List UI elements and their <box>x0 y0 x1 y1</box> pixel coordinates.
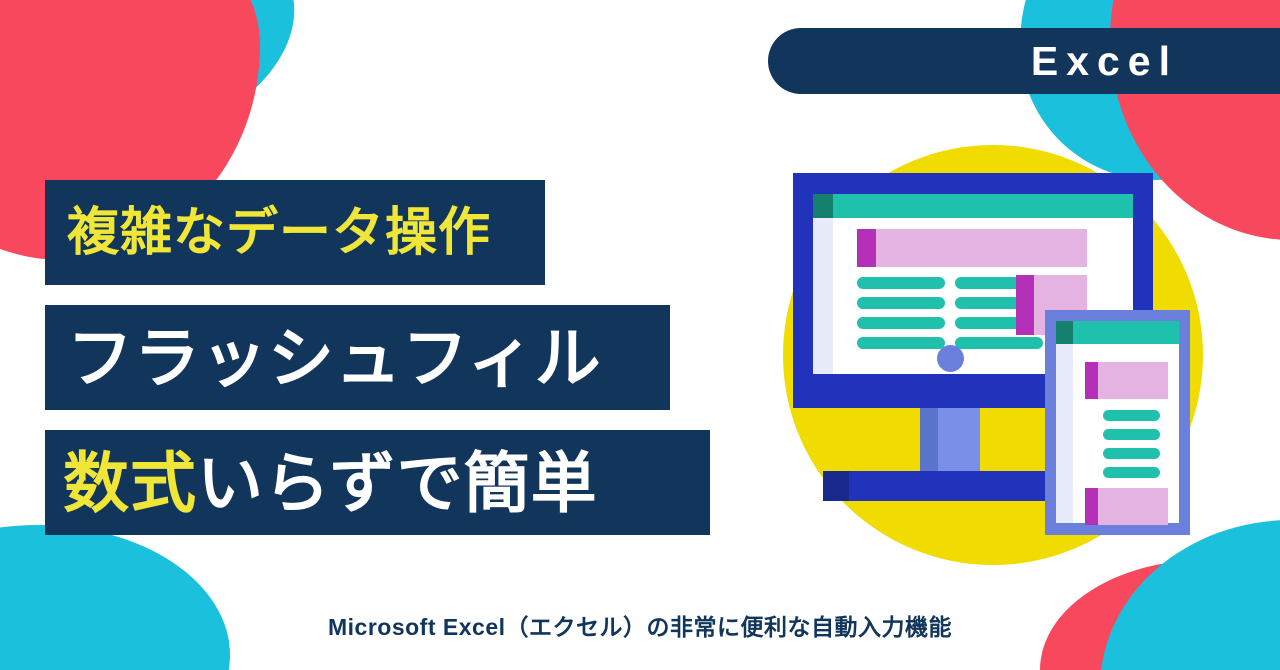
spreadsheet-corner-cell <box>813 194 833 218</box>
spreadsheet-cell-pill <box>857 277 945 289</box>
headline-line-3-accent: 数式 <box>63 450 197 516</box>
tablet-bottom-block <box>1085 488 1168 525</box>
tablet-toolbar <box>1056 321 1179 344</box>
tablet-frame <box>1045 310 1190 535</box>
tablet-top-block-tag <box>1085 362 1098 399</box>
excel-badge-label: Excel <box>1031 41 1178 82</box>
headline-bar-1: 複雑なデータ操作 <box>45 180 545 285</box>
spreadsheet-wide-row-tag <box>857 229 876 267</box>
spreadsheet-cell-pill <box>857 297 945 309</box>
spreadsheet-result-block-tag <box>1016 275 1034 335</box>
tablet-corner-cell <box>1056 321 1073 344</box>
excel-badge: Excel <box>768 28 1280 94</box>
monitor-stand-base <box>823 471 1063 501</box>
headline-bar-2: フラッシュフィル <box>45 305 670 410</box>
headline-bar-3: 数式いらずで簡単 <box>45 430 710 535</box>
spreadsheet-wide-row <box>857 229 1087 267</box>
decorative-blob-cyan-bottom-left <box>0 525 230 670</box>
spreadsheet-toolbar <box>813 194 1133 218</box>
spreadsheet-cell-pill <box>857 317 945 329</box>
tablet-cell-pill <box>1103 467 1160 478</box>
headline-line-3-rest: いらずで簡単 <box>197 450 598 516</box>
spreadsheet-cell-pill <box>955 337 1043 349</box>
tablet-screen <box>1056 321 1179 523</box>
caption-text: Microsoft Excel（エクセル）の非常に便利な自動入力機能 <box>0 608 1280 642</box>
spreadsheet-cell-pill <box>857 337 945 349</box>
tablet-bottom-block-tag <box>1085 488 1098 525</box>
tablet-cell-pill <box>1103 448 1160 459</box>
spreadsheet-row-header <box>813 218 833 374</box>
illustration-group <box>740 130 1280 580</box>
tablet-cell-pill <box>1103 410 1160 421</box>
headline-line-1: 複雑なデータ操作 <box>67 207 491 259</box>
monitor-hinge-dot <box>937 345 964 372</box>
monitor-stand-column-shade <box>920 408 938 471</box>
tablet-cell-pill <box>1103 429 1160 440</box>
tablet-top-block <box>1085 362 1168 399</box>
tablet-row-header <box>1056 344 1073 523</box>
monitor-stand-base-shadow <box>823 471 849 501</box>
tablet-body <box>1073 344 1179 523</box>
headline-line-2: フラッシュフィル <box>67 325 602 391</box>
thumbnail-canvas: Excel 複雑なデータ操作 フラッシュフィル 数式いらずで簡単 Microso… <box>0 0 1280 670</box>
